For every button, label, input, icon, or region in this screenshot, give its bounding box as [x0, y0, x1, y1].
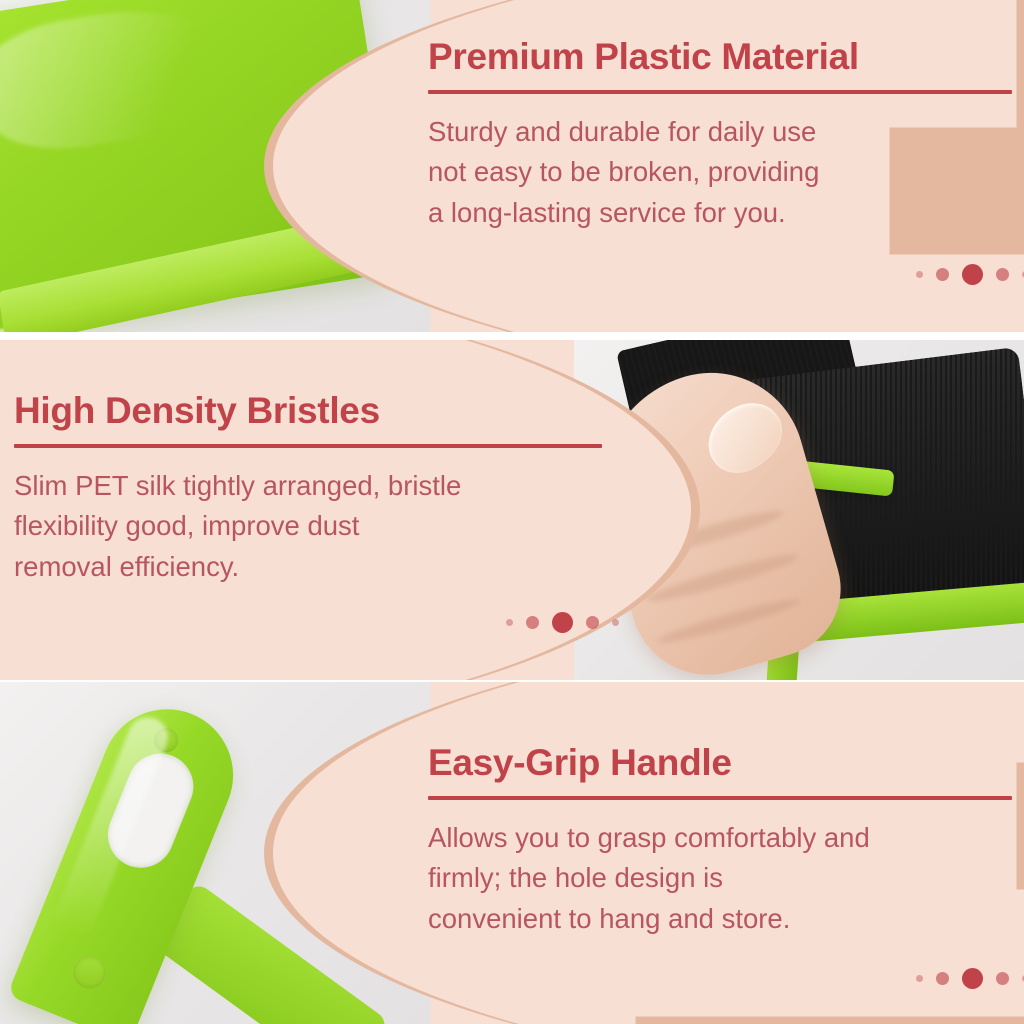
- feature-description: Slim PET silk tightly arranged, bristle …: [14, 466, 594, 587]
- infographic-board: Premium Plastic Material Sturdy and dura…: [0, 0, 1024, 1024]
- dustpan-highlight: [0, 0, 251, 161]
- product-photo-bristles: [574, 340, 1024, 680]
- feature-description: Allows you to grasp comfortably and firm…: [428, 818, 1014, 939]
- dot-divider-ornament: [916, 264, 1024, 285]
- feature-panel-easy-grip-handle: Easy-Grip Handle Allows you to grasp com…: [0, 682, 1024, 1024]
- ornament-dot: [962, 264, 983, 285]
- description-line: flexibility good, improve dust: [14, 506, 594, 546]
- ornament-dot: [586, 616, 599, 629]
- description-line: Allows you to grasp comfortably and: [428, 818, 1014, 858]
- ornament-dot: [552, 612, 573, 633]
- feature-description: Sturdy and durable for daily use not eas…: [428, 112, 1014, 233]
- product-photo-handle: [0, 682, 430, 1024]
- heading-underline: [428, 90, 1012, 94]
- description-line: not easy to be broken, providing: [428, 152, 1014, 192]
- feature-heading: High Density Bristles: [14, 392, 594, 431]
- feature-text-block: Premium Plastic Material Sturdy and dura…: [428, 38, 1014, 233]
- ornament-dot: [936, 268, 949, 281]
- feature-panel-high-density-bristles: High Density Bristles Slim PET silk tigh…: [0, 340, 1024, 680]
- ornament-dot: [996, 268, 1009, 281]
- dot-divider-ornament: [506, 612, 619, 633]
- ornament-dot: [916, 975, 923, 982]
- ornament-dot: [506, 619, 513, 626]
- description-line: firmly; the hole design is: [428, 858, 1014, 898]
- ornament-dot: [916, 271, 923, 278]
- dot-divider-ornament: [916, 968, 1024, 989]
- description-line: Slim PET silk tightly arranged, bristle: [14, 466, 594, 506]
- description-line: removal efficiency.: [14, 547, 594, 587]
- ornament-dot: [962, 968, 983, 989]
- description-line: a long-lasting service for you.: [428, 193, 1014, 233]
- feature-heading: Easy-Grip Handle: [428, 744, 1014, 783]
- ornament-dot: [936, 972, 949, 985]
- knuckle-crease: [655, 594, 803, 649]
- product-photo-dustpan: [0, 0, 430, 332]
- feature-text-block: Easy-Grip Handle Allows you to grasp com…: [428, 744, 1014, 939]
- feature-heading: Premium Plastic Material: [428, 38, 1014, 77]
- heading-underline: [14, 444, 602, 448]
- description-line: Sturdy and durable for daily use: [428, 112, 1014, 152]
- feature-text-block: High Density Bristles Slim PET silk tigh…: [14, 392, 594, 587]
- ornament-dot: [612, 619, 619, 626]
- knuckle-crease: [645, 549, 801, 608]
- ornament-dot: [996, 972, 1009, 985]
- thumbnail: [695, 389, 795, 486]
- feature-panel-premium-plastic-material: Premium Plastic Material Sturdy and dura…: [0, 0, 1024, 332]
- description-line: convenient to hang and store.: [428, 899, 1014, 939]
- ornament-dot: [526, 616, 539, 629]
- handle-rivet: [69, 952, 111, 994]
- knuckle-crease: [638, 505, 787, 562]
- heading-underline: [428, 796, 1012, 800]
